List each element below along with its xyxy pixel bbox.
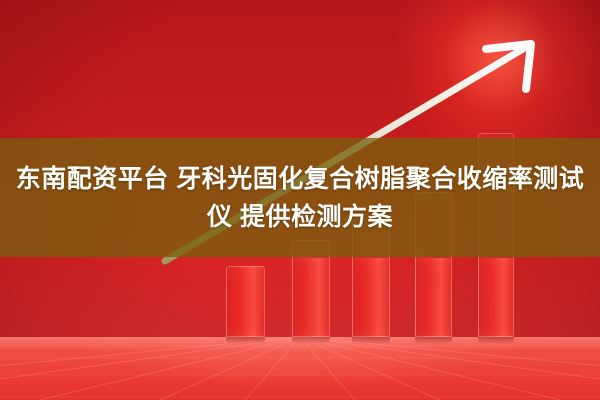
banner-title: 东南配资平台 牙科光固化复合树脂聚合收缩率测试 仪 提供检测方案	[0, 138, 600, 257]
bar-chart-column-5	[478, 258, 514, 337]
bar-chart-column-1	[226, 266, 265, 337]
bar-chart-column-4	[415, 258, 452, 337]
bar-shadow-1	[226, 337, 265, 344]
promo-banner: 东南配资平台 牙科光固化复合树脂聚合收缩率测试 仪 提供检测方案	[0, 0, 600, 400]
bar-chart-column-2	[292, 258, 330, 337]
floor-grid-lines	[0, 337, 600, 400]
bar-shadow-2	[292, 337, 330, 344]
banner-title-line-2: 仪 提供检测方案	[207, 198, 393, 236]
banner-title-line-1: 东南配资平台 牙科光固化复合树脂聚合收缩率测试	[16, 160, 584, 198]
bar-shadow-5	[478, 337, 514, 344]
bar-chart-column-3	[352, 258, 390, 337]
bar-shadow-4	[415, 337, 452, 344]
floor	[0, 337, 600, 400]
bar-shadow-3	[352, 337, 390, 344]
